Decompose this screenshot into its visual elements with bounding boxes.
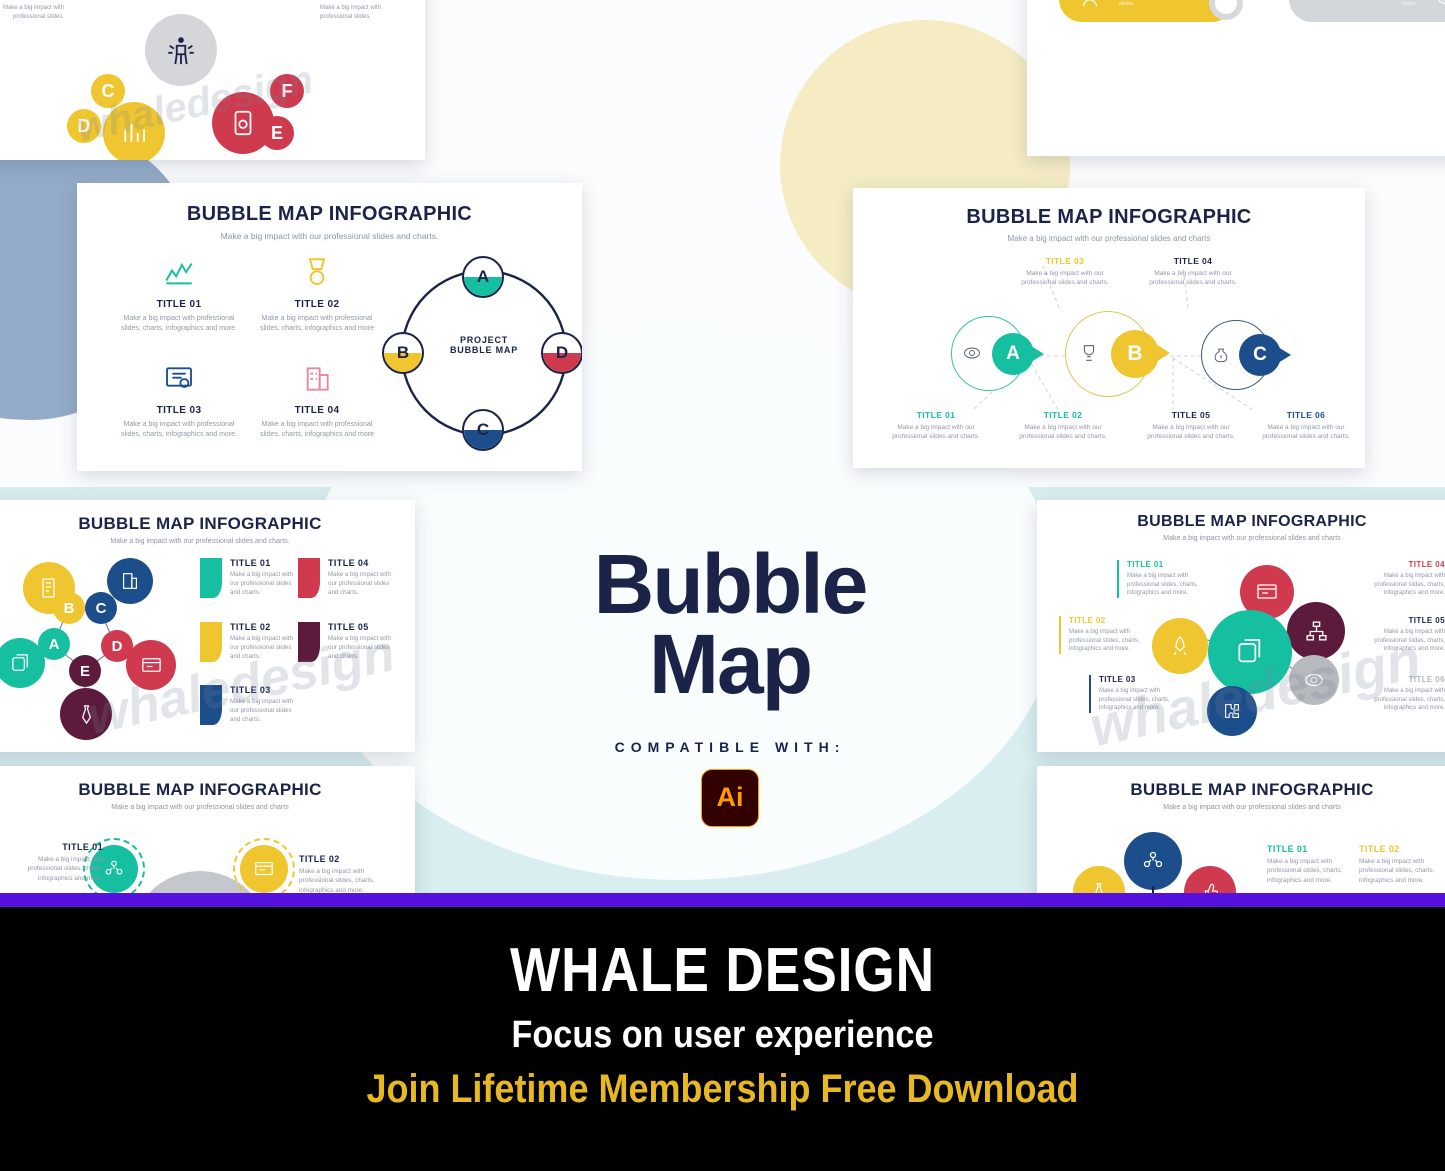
- bubble-B[interactable]: B: [382, 332, 424, 374]
- item-title: TITLE 05: [1355, 616, 1445, 625]
- item-body: Make a big impact with professional slid…: [299, 867, 399, 893]
- browser-icon: [253, 858, 275, 880]
- feature-title: TITLE 04: [253, 405, 381, 416]
- node-B[interactable]: B: [53, 592, 85, 624]
- item-title: TITLE 04: [1138, 256, 1248, 266]
- item-title: TITLE 05: [1136, 410, 1246, 420]
- item-body: Make a big impact with professional slid…: [7, 855, 103, 883]
- legend-body: Make a big impact with our professional …: [328, 635, 400, 662]
- bubble-A[interactable]: A: [462, 256, 504, 298]
- hero-line-2: Map: [520, 625, 940, 705]
- item-title: TITLE 02: [1359, 844, 1445, 854]
- medal-icon: [298, 255, 336, 289]
- hub-circle: [145, 14, 217, 86]
- node-letter: D: [78, 116, 91, 137]
- item-body: Make a big impact with professional slid…: [1099, 687, 1189, 713]
- feature-title: TITLE 02: [253, 299, 381, 310]
- feature-body: Make a big impact with professional slid…: [253, 420, 381, 440]
- legend-title: TITLE 03: [230, 685, 302, 695]
- item-title: TITLE 03: [1010, 256, 1120, 266]
- node-C[interactable]: C: [85, 592, 117, 624]
- footer-banner: WHALE DESIGN Focus on user experience Jo…: [0, 907, 1445, 1171]
- bubble-letter: B: [1127, 342, 1142, 366]
- node-D[interactable]: D: [67, 109, 101, 143]
- slide-bubble-map-b[interactable]: BUBBLE MAP INFOGRAPHIC Make a big impact…: [853, 188, 1365, 468]
- bubble-A[interactable]: A: [992, 333, 1034, 375]
- top-item[interactable]: TITLE 04 Make a big impact with our prof…: [1138, 256, 1248, 288]
- icon-circle-navy[interactable]: [107, 558, 153, 604]
- slide-title: BUBBLE MAP INFOGRAPHIC: [0, 780, 415, 800]
- node-D[interactable]: D: [101, 630, 133, 662]
- label-item-01[interactable]: TITLE 01 Make a big impact with professi…: [1117, 560, 1217, 598]
- item-title: TITLE 03: [1099, 675, 1189, 684]
- legend-title: TITLE 05: [328, 622, 400, 632]
- puzzle-icon: [1221, 700, 1243, 722]
- icon-circle-maroon[interactable]: [60, 688, 112, 740]
- item-body: Make a big impact with professional slid…: [1267, 857, 1367, 885]
- item-body: Make a big impact with our professional …: [1010, 269, 1120, 288]
- cards-icon: [9, 652, 32, 675]
- bubble-letter: B: [397, 343, 409, 363]
- clipboard-icon: [228, 108, 258, 138]
- bubble-B[interactable]: B: [1111, 330, 1159, 378]
- bubble-red[interactable]: [1184, 866, 1236, 893]
- legend-title: TITLE 04: [328, 558, 400, 568]
- brand-tagline: Focus on user experience: [72, 1014, 1373, 1057]
- legend-swatch: [298, 558, 320, 598]
- slide-subtitle: Make a big impact with our professional …: [1037, 804, 1445, 811]
- pill-title-06[interactable]: TITLE 06 Make a big impact with our prof…: [1289, 0, 1445, 22]
- item-title: TITLE 02: [1008, 410, 1118, 420]
- slide-bubble-map-c[interactable]: BUBBLE MAP INFOGRAPHIC Make a big impact…: [0, 500, 415, 752]
- node-letter: D: [112, 638, 123, 655]
- line-chart-icon: [159, 255, 199, 289]
- legend-swatch: [200, 558, 222, 598]
- bubble-letter: A: [477, 267, 489, 287]
- legend-title: TITLE 01: [230, 558, 302, 568]
- item-title: TITLE 02: [1069, 616, 1159, 625]
- bubble-A-pointer: [1031, 346, 1044, 362]
- slide-bubble-map-a[interactable]: BUBBLE MAP INFOGRAPHIC Make a big impact…: [77, 183, 582, 471]
- bubble-grey[interactable]: [1289, 655, 1339, 705]
- icon-bubble-yellow[interactable]: [103, 102, 165, 160]
- building-icon: [298, 363, 336, 395]
- pill-body: Make a big impact with our professional …: [1119, 0, 1223, 8]
- legend-swatch: [200, 685, 222, 725]
- item-body: Make a big impact with professional slid…: [1127, 572, 1217, 598]
- bubble-maroon[interactable]: [1287, 602, 1345, 660]
- legend-swatch: [298, 622, 320, 662]
- node-E[interactable]: E: [69, 655, 101, 687]
- legend-body: Make a big impact with our professional …: [328, 571, 400, 598]
- bubble-C[interactable]: C: [1239, 334, 1281, 376]
- label-item-02[interactable]: TITLE 02 Make a big impact with professi…: [1059, 616, 1159, 654]
- node-letter: C: [102, 81, 115, 102]
- team-icon: [1079, 0, 1101, 10]
- brand-name: WHALE DESIGN: [101, 935, 1344, 1006]
- trophy-icon: [1078, 342, 1100, 364]
- slide-bubble-map-d[interactable]: BUBBLE MAP INFOGRAPHIC Make a big impact…: [1037, 500, 1445, 752]
- bottom-item[interactable]: TITLE 05 Make a big impact with our prof…: [1136, 410, 1246, 442]
- org-chart-icon: [1304, 619, 1329, 644]
- legend-title: TITLE 02: [230, 622, 302, 632]
- bubble-C-pointer: [1278, 347, 1291, 363]
- bubble-teal-main[interactable]: [1208, 610, 1292, 694]
- item-title: TITLE 01: [1127, 560, 1217, 569]
- legend-item-03[interactable]: TITLE 03 Make a big impact with our prof…: [200, 685, 302, 725]
- node-letter: F: [282, 81, 293, 102]
- label-item-02[interactable]: TITLE 02 Make a big impact with professi…: [299, 854, 399, 893]
- building-icon: [119, 570, 141, 592]
- bar-chart-icon: [119, 118, 149, 148]
- hero-block: Bubble Map COMPATIBLE WITH: Ai: [520, 545, 940, 827]
- slide-subtitle: Make a big impact with our professional …: [0, 804, 415, 811]
- label-item-06[interactable]: TITLE 06 Make a big impact with professi…: [1355, 675, 1445, 713]
- item-body: Make a big impact with professional slid…: [1355, 572, 1445, 598]
- slide-title: BUBBLE MAP INFOGRAPHIC: [77, 203, 582, 226]
- legend-swatch: [200, 622, 222, 662]
- item-body: Make a big impact with our professional …: [1136, 423, 1246, 442]
- rocket-icon: [1168, 634, 1192, 658]
- node-letter: E: [271, 123, 283, 144]
- side-text: Make a big impact with professional slid…: [320, 4, 400, 21]
- bubble-yellow[interactable]: [240, 845, 288, 893]
- browser-icon: [140, 654, 163, 677]
- label-item-01[interactable]: TITLE 01 Make a big impact with professi…: [7, 842, 103, 883]
- item-body: Make a big impact with our professional …: [1251, 423, 1361, 442]
- bubble-yellow[interactable]: [1152, 618, 1208, 674]
- icon-circle-red[interactable]: [126, 640, 176, 690]
- team-icon: [1141, 849, 1165, 873]
- node-letter: C: [96, 600, 107, 617]
- slide-bottom-left[interactable]: BUBBLE MAP INFOGRAPHIC Make a big impact…: [0, 766, 415, 893]
- cta-text: Join Lifetime Membership Free Download: [72, 1067, 1373, 1112]
- item-body: Make a big impact with our professional …: [1138, 269, 1248, 288]
- node-letter: E: [80, 663, 90, 680]
- bubble-letter: D: [556, 343, 568, 363]
- node-F[interactable]: F: [270, 74, 304, 108]
- bottom-item[interactable]: TITLE 06 Make a big impact with our prof…: [1251, 410, 1361, 442]
- node-E[interactable]: E: [260, 116, 294, 150]
- label-item-03[interactable]: TITLE 03 Make a big impact with professi…: [1089, 675, 1189, 713]
- compatible-label: COMPATIBLE WITH:: [520, 739, 940, 755]
- side-text: Make a big impact with professional slid…: [0, 4, 64, 21]
- item-body: Make a big impact with professional slid…: [1069, 628, 1159, 654]
- preview-stage: B H G C D F E Make a big impact with pro…: [0, 0, 1445, 893]
- label-item-04[interactable]: TITLE 04 Make a big impact with professi…: [1355, 560, 1445, 598]
- feature-body: Make a big impact with professional slid…: [253, 314, 381, 334]
- bubble-C[interactable]: C: [462, 409, 504, 451]
- slide-subtitle: Make a big impact with our professional …: [77, 231, 582, 241]
- leadership-icon: [164, 33, 198, 67]
- feature-body: Make a big impact with professional slid…: [115, 314, 243, 334]
- legend-item-05[interactable]: TITLE 05 Make a big impact with our prof…: [298, 622, 400, 662]
- bubble-letter: C: [1253, 344, 1267, 366]
- certificate-icon: [160, 363, 198, 395]
- slide-bottom-right[interactable]: BUBBLE MAP INFOGRAPHIC Make a big impact…: [1037, 766, 1445, 893]
- item-title: TITLE 02: [299, 854, 399, 864]
- feature-cell[interactable]: TITLE 04 Make a big impact with professi…: [253, 363, 381, 440]
- eye-icon: [1435, 0, 1445, 10]
- bottom-item[interactable]: TITLE 02 Make a big impact with our prof…: [1008, 410, 1118, 442]
- browser-icon: [1255, 580, 1279, 604]
- bubble-navy[interactable]: [1124, 832, 1182, 890]
- legend-body: Make a big impact with our professional …: [230, 635, 302, 662]
- slide-top-right[interactable]: TITLE 01 Make a big impact with our prof…: [1027, 0, 1445, 156]
- bottom-item[interactable]: TITLE 01 Make a big impact with our prof…: [881, 410, 991, 442]
- bubble-D[interactable]: D: [541, 332, 582, 374]
- bubble-letter: C: [477, 420, 489, 440]
- eye-icon: [1303, 669, 1325, 691]
- purple-divider-bar: [0, 893, 1445, 907]
- legend-body: Make a big impact with our professional …: [230, 571, 302, 598]
- item-body: Make a big impact with our professional …: [1008, 423, 1118, 442]
- bubble-B-pointer: [1156, 344, 1170, 362]
- feature-title: TITLE 03: [115, 405, 243, 416]
- feature-cell[interactable]: TITLE 02 Make a big impact with professi…: [253, 255, 381, 334]
- item-body: Make a big impact with our professional …: [881, 423, 991, 442]
- node-letter: A: [49, 636, 60, 653]
- tie-icon: [75, 703, 98, 726]
- bubble-letter: A: [1006, 343, 1020, 365]
- label-item-05[interactable]: TITLE 05 Make a big impact with professi…: [1355, 616, 1445, 654]
- feature-title: TITLE 01: [115, 299, 243, 310]
- item-body: Make a big impact with professional slid…: [1355, 687, 1445, 713]
- feature-body: Make a big impact with professional slid…: [115, 420, 243, 440]
- item-title: TITLE 04: [1355, 560, 1445, 569]
- adobe-illustrator-icon: Ai: [701, 769, 759, 827]
- hero-line-1: Bubble: [520, 545, 940, 625]
- thumbsup-icon: [1199, 881, 1221, 893]
- pill-body: Make a big impact with our professional …: [1313, 0, 1417, 8]
- cards-icon: [1234, 636, 1266, 668]
- item-title: TITLE 06: [1355, 675, 1445, 684]
- item-body: Make a big impact with professional slid…: [1359, 857, 1445, 885]
- node-letter: B: [64, 600, 75, 617]
- legend-item-01[interactable]: TITLE 01 Make a big impact with our prof…: [200, 558, 302, 598]
- center-label: PROJECT BUBBLE MAP: [429, 335, 539, 355]
- node-C[interactable]: C: [91, 74, 125, 108]
- legend-item-02[interactable]: TITLE 02 Make a big impact with our prof…: [200, 622, 302, 662]
- bubble-navy[interactable]: [1207, 686, 1257, 736]
- legend-item-04[interactable]: TITLE 04 Make a big impact with our prof…: [298, 558, 400, 598]
- label-item-01[interactable]: TITLE 01 Make a big impact with professi…: [1267, 844, 1367, 885]
- team-icon: [103, 858, 125, 880]
- node-A[interactable]: A: [38, 628, 70, 660]
- stem-line: [1147, 886, 1167, 893]
- feature-cell[interactable]: TITLE 01 Make a big impact with professi…: [115, 255, 243, 334]
- slide-top-left[interactable]: B H G C D F E Make a big impact with pro…: [0, 0, 425, 160]
- item-title: TITLE 01: [881, 410, 991, 420]
- feature-cell[interactable]: TITLE 03 Make a big impact with professi…: [115, 363, 243, 440]
- bubble-yellow[interactable]: [1073, 866, 1125, 893]
- eye-icon: [962, 343, 982, 363]
- item-body: Make a big impact with professional slid…: [1355, 628, 1445, 654]
- legend-body: Make a big impact with our professional …: [230, 698, 302, 725]
- item-title: TITLE 06: [1251, 410, 1361, 420]
- slide-title: BUBBLE MAP INFOGRAPHIC: [1037, 780, 1445, 800]
- item-title: TITLE 01: [7, 842, 103, 852]
- tie-icon: [1088, 881, 1110, 893]
- moneybag-icon: [1211, 345, 1231, 365]
- top-item[interactable]: TITLE 03 Make a big impact with our prof…: [1010, 256, 1120, 288]
- item-title: TITLE 01: [1267, 844, 1367, 854]
- label-item-02[interactable]: TITLE 02 Make a big impact with professi…: [1359, 844, 1445, 885]
